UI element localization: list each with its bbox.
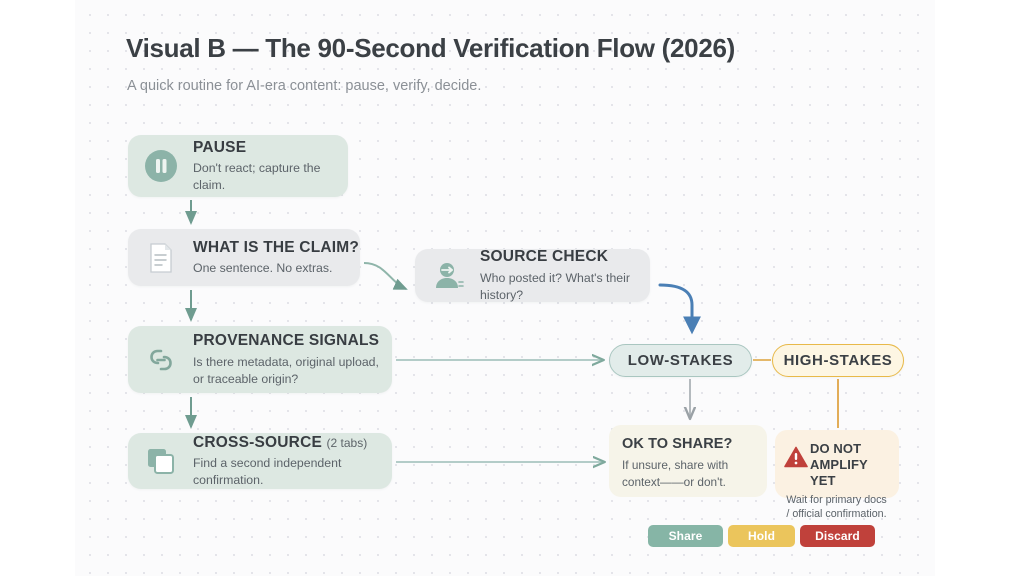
document-icon (142, 239, 180, 277)
step-heading: PROVENANCE SIGNALS (193, 331, 379, 350)
outcome-ok-to-share[interactable]: OK TO SHARE? If unsure, share with conte… (609, 425, 767, 497)
step-heading: SOURCE CHECK (480, 247, 634, 266)
outcome-heading: DO NOT AMPLIFY YET (810, 441, 889, 489)
copy-tabs-icon (142, 442, 180, 480)
step-detail: Find a second independent confirmation. (193, 455, 376, 489)
step-card-cross-source[interactable]: CROSS-SOURCE (2 tabs) Find a second inde… (128, 433, 392, 489)
decision-pill-low-stakes[interactable]: LOW-STAKES (609, 344, 752, 377)
discard-button[interactable]: Discard (800, 525, 875, 547)
link-chain-icon (142, 341, 180, 379)
share-button[interactable]: Share (648, 525, 723, 547)
infographic-root: Visual B — The 90-Second Verification Fl… (0, 0, 1024, 576)
step-detail: Is there metadata, original upload, or t… (193, 354, 379, 388)
step-heading-note: (2 tabs) (327, 436, 368, 450)
page-title: Visual B — The 90-Second Verification Fl… (126, 33, 735, 64)
warning-triangle-icon (784, 446, 810, 473)
outcome-detail: If unsure, share with context——or don't. (622, 457, 754, 491)
decision-pill-high-stakes[interactable]: HIGH-STAKES (772, 344, 904, 377)
hold-button[interactable]: Hold (728, 525, 795, 547)
step-detail: One sentence. No extras. (193, 260, 359, 277)
step-heading: CROSS-SOURCE (2 tabs) (193, 433, 376, 452)
step-detail: Don't react; capture the claim. (193, 160, 332, 194)
outcome-do-not-amplify[interactable]: DO NOT AMPLIFY YET Wait for primary docs… (775, 430, 899, 498)
outcome-detail: Wait for primary docs / official confirm… (784, 493, 889, 521)
step-heading: PAUSE (193, 138, 332, 157)
step-card-claim[interactable]: WHAT IS THE CLAIM? One sentence. No extr… (128, 229, 360, 286)
step-heading-text: CROSS-SOURCE (193, 434, 322, 451)
step-card-provenance[interactable]: PROVENANCE SIGNALS Is there metadata, or… (128, 326, 392, 393)
page-subtitle: A quick routine for AI-era content: paus… (127, 78, 481, 94)
pause-circle-icon (142, 147, 180, 185)
step-card-pause[interactable]: PAUSE Don't react; capture the claim. (128, 135, 348, 197)
user-check-icon (429, 257, 467, 295)
step-heading: WHAT IS THE CLAIM? (193, 238, 359, 257)
outcome-heading: OK TO SHARE? (622, 436, 754, 452)
step-detail: Who posted it? What's their history? (480, 270, 634, 304)
step-card-source-check[interactable]: SOURCE CHECK Who posted it? What's their… (415, 249, 650, 302)
